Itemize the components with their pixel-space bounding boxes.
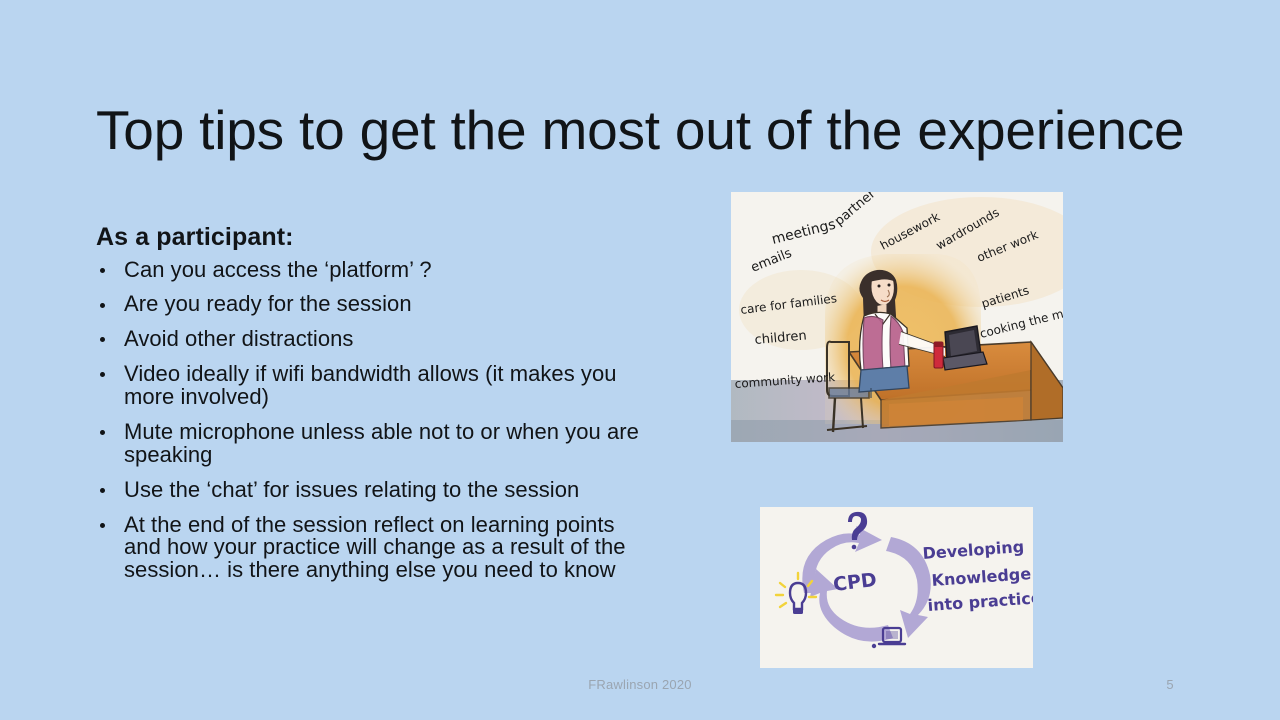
list-item: Mute microphone unless able not to or wh…: [96, 421, 644, 467]
list-item: At the end of the session reflect on lea…: [96, 514, 644, 583]
list-item-label: Avoid other distractions: [124, 326, 353, 351]
body-text-column: As a participant: Can you access the ‘pl…: [96, 222, 644, 594]
cpd-cycle-svg: CPD: [760, 507, 1033, 668]
page-title: Top tips to get the most out of the expe…: [96, 101, 1196, 160]
bullet-dot-icon: [100, 337, 105, 342]
list-item: Can you access the ‘platform’ ?: [96, 259, 644, 282]
slide-canvas: Top tips to get the most out of the expe…: [0, 0, 1280, 720]
bullet-dot-icon: [100, 303, 105, 308]
desk-sketch-image: emails meetings partner housework wardro…: [731, 192, 1063, 442]
bullet-dot-icon: [100, 523, 105, 528]
list-item-label: Are you ready for the session: [124, 291, 412, 316]
desk-sketch-svg: emails meetings partner housework wardro…: [731, 192, 1063, 442]
slide-number: 5: [1140, 677, 1200, 692]
list-item: Are you ready for the session: [96, 293, 644, 316]
bullet-dot-icon: [100, 488, 105, 493]
list-item-label: Mute microphone unless able not to or wh…: [124, 419, 639, 467]
list-item-label: Use the ‘chat’ for issues relating to th…: [124, 477, 579, 502]
bullet-dot-icon: [100, 430, 105, 435]
list-item: Video ideally if wifi bandwidth allows (…: [96, 363, 644, 409]
footer-credit: FRawlinson 2020: [0, 677, 1280, 692]
list-item-label: Video ideally if wifi bandwidth allows (…: [124, 361, 617, 409]
cpd-cycle-image: CPD: [760, 507, 1033, 668]
bullet-dot-icon: [100, 372, 105, 377]
tips-list: Can you access the ‘platform’ ? Are you …: [96, 259, 644, 583]
list-item-label: At the end of the session reflect on lea…: [124, 512, 626, 583]
list-item: Use the ‘chat’ for issues relating to th…: [96, 479, 644, 502]
list-item: Avoid other distractions: [96, 328, 644, 351]
bullet-dot-icon: [100, 268, 105, 273]
participant-heading: As a participant:: [96, 222, 644, 253]
list-item-label: Can you access the ‘platform’ ?: [124, 257, 432, 282]
